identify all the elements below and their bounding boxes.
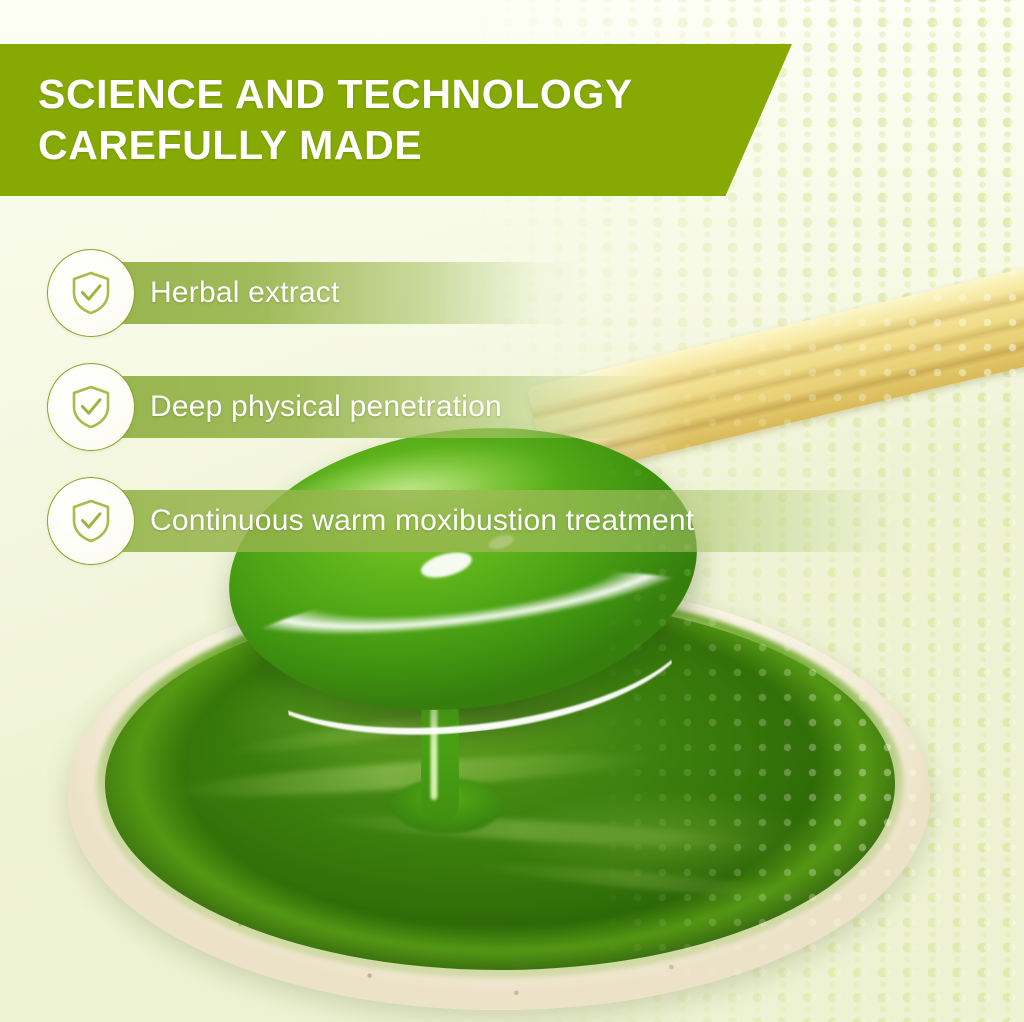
product-feature-banner: SCIENCE AND TECHNOLOGY CAREFULLY MADE He… xyxy=(0,0,1024,1022)
feature-item: Deep physical penetration xyxy=(0,363,1024,477)
page-title: SCIENCE AND TECHNOLOGY CAREFULLY MADE xyxy=(0,69,633,171)
feature-badge xyxy=(47,477,135,565)
shield-check-icon xyxy=(67,383,115,431)
feature-list: Herbal extract Deep physical penetration xyxy=(0,249,1024,591)
title-banner: SCIENCE AND TECHNOLOGY CAREFULLY MADE xyxy=(0,44,792,196)
title-line-2: CAREFULLY MADE xyxy=(38,120,633,171)
feature-item: Continuous warm moxibustion treatment xyxy=(0,477,1024,591)
feature-badge xyxy=(47,363,135,451)
feature-item: Herbal extract xyxy=(0,249,1024,363)
feature-label: Herbal extract xyxy=(150,262,340,324)
title-line-1: SCIENCE AND TECHNOLOGY xyxy=(38,71,633,117)
feature-label: Deep physical penetration xyxy=(150,376,502,438)
feature-badge xyxy=(47,249,135,337)
feature-label: Continuous warm moxibustion treatment xyxy=(150,490,694,552)
shield-check-icon xyxy=(67,269,115,317)
shield-check-icon xyxy=(67,497,115,545)
